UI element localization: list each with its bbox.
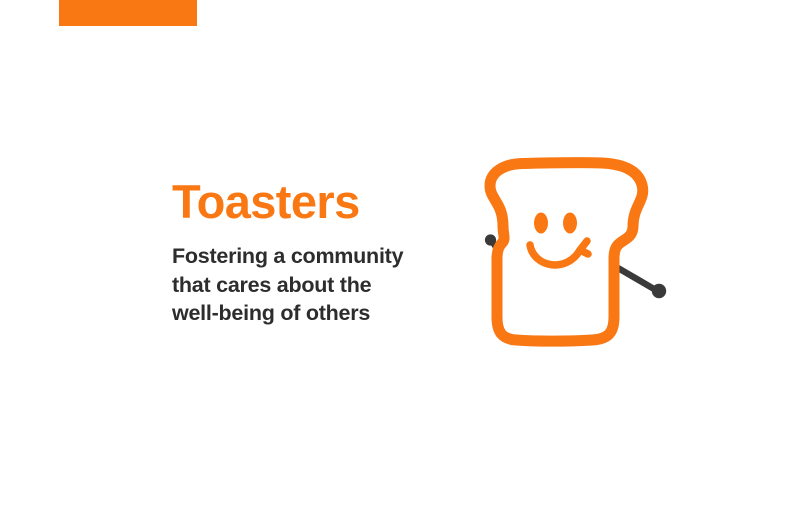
subtitle-line-3: well-being of others: [172, 299, 462, 328]
accent-bar: [59, 0, 197, 26]
subtitle-line-2: that cares about the: [172, 271, 462, 300]
subtitle-line-1: Fostering a community: [172, 242, 462, 271]
page-title: Toasters: [172, 176, 462, 228]
slide-canvas: Toasters Fostering a community that care…: [0, 0, 806, 521]
text-block: Toasters Fostering a community that care…: [172, 176, 462, 328]
toast-mascot-icon: [440, 155, 690, 365]
subtitle: Fostering a community that cares about t…: [172, 242, 462, 328]
bread-body-icon: [490, 163, 643, 342]
toast-mascot-illustration: [440, 155, 690, 365]
right-arm-icon: [618, 268, 666, 298]
